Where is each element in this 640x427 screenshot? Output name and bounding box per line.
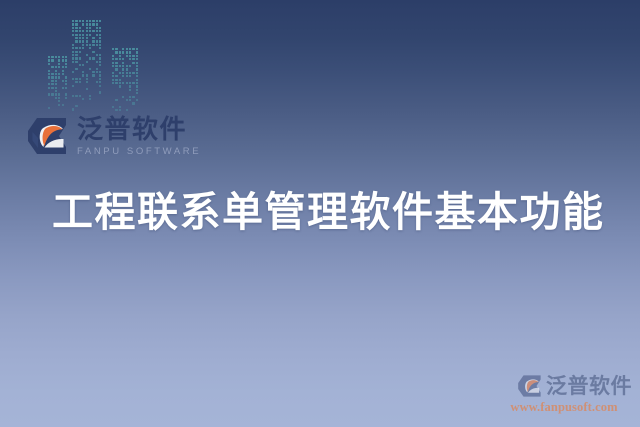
fanpu-logo-name-en: FANPU SOFTWARE <box>77 147 201 157</box>
fanpu-logo-wordmark: 泛普软件 FANPU SOFTWARE <box>77 116 201 157</box>
fanpu-logo: 泛普软件 FANPU SOFTWARE <box>26 116 201 157</box>
fanpu-logo-name-cn: 泛普软件 <box>77 117 201 143</box>
pixel-skyline-graphic <box>44 18 154 110</box>
watermark-url: www.fanpusoft.com <box>496 400 632 415</box>
watermark: 泛普软件 www.fanpusoft.com <box>496 374 632 415</box>
page-title: 工程联系单管理软件基本功能 <box>52 188 605 236</box>
promo-banner: 泛普软件 FANPU SOFTWARE 工程联系单管理软件基本功能 泛普软件 w… <box>0 0 640 427</box>
fanpu-logo-mark-icon <box>26 116 70 156</box>
watermark-name-cn: 泛普软件 <box>546 376 632 397</box>
watermark-logo-mark-icon <box>517 374 543 398</box>
watermark-logo-row: 泛普软件 <box>496 374 632 398</box>
